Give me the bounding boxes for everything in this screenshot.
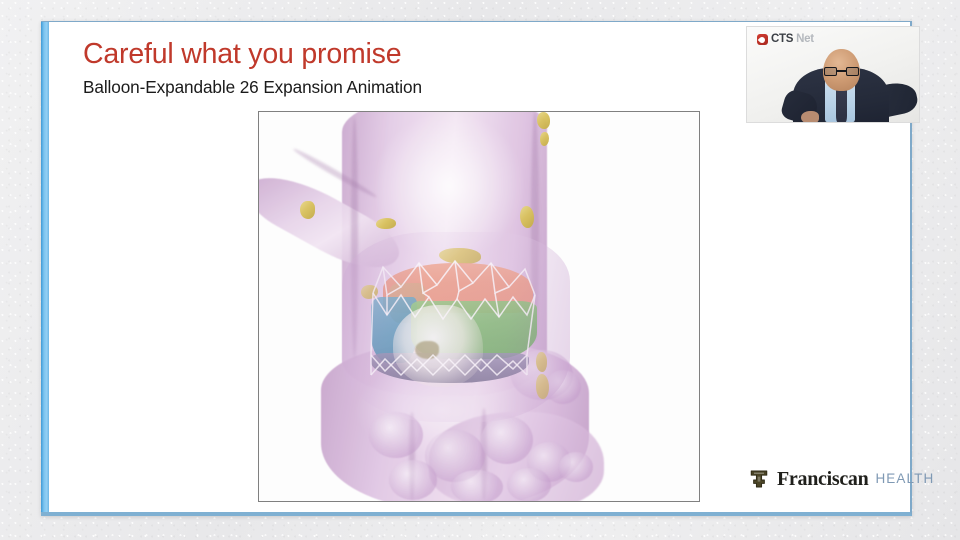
- presenter-glasses-icon: [824, 67, 859, 76]
- ctsnet-logo-secondary: Net: [796, 34, 814, 46]
- ctsnet-logo-primary: CTS: [771, 34, 793, 46]
- health-wordmark: HEALTH: [875, 472, 934, 486]
- vessel-lobule: [559, 452, 593, 482]
- calcium-nodule: [540, 132, 549, 146]
- calcium-nodule: [537, 112, 550, 129]
- slide-subtitle: Balloon-Expandable 26 Expansion Animatio…: [83, 77, 422, 98]
- glasses-bridge: [837, 70, 846, 72]
- page-title: Careful what you promise: [83, 38, 401, 71]
- slide-content-area: Careful what you promise Balloon-Expanda…: [49, 22, 910, 512]
- animation-render: [259, 112, 699, 501]
- vessel-lobule: [451, 470, 503, 502]
- calcium-nodule: [520, 206, 534, 228]
- glasses-lens-right: [846, 67, 859, 76]
- vessel-lobule: [507, 468, 551, 502]
- stent-wire-frame-icon: [357, 257, 557, 395]
- screen-background: Careful what you promise Balloon-Expanda…: [0, 0, 960, 540]
- tau-cross-icon: [748, 468, 770, 490]
- slide-accent-bar-left: [41, 22, 49, 512]
- ctsnet-logo: CTS Net: [757, 34, 814, 46]
- calcium-nodule: [300, 201, 315, 219]
- calcium-nodule: [376, 218, 396, 229]
- animation-figure-frame: [258, 111, 700, 502]
- presenter-hand: [801, 111, 819, 123]
- franciscan-wordmark: Franciscan: [777, 469, 868, 489]
- presenter-video-thumbnail[interactable]: CTS Net: [746, 26, 920, 123]
- vessel-lobule: [481, 416, 533, 464]
- vessel-lobule: [389, 460, 437, 500]
- presentation-slide: Careful what you promise Balloon-Expanda…: [41, 21, 912, 516]
- franciscan-health-logo: Franciscan HEALTH: [748, 468, 934, 490]
- vessel-lobule: [369, 412, 423, 458]
- glasses-lens-left: [824, 67, 837, 76]
- ctsnet-heart-icon: [757, 34, 768, 45]
- balloon-expandable-valve-stent: [357, 257, 557, 395]
